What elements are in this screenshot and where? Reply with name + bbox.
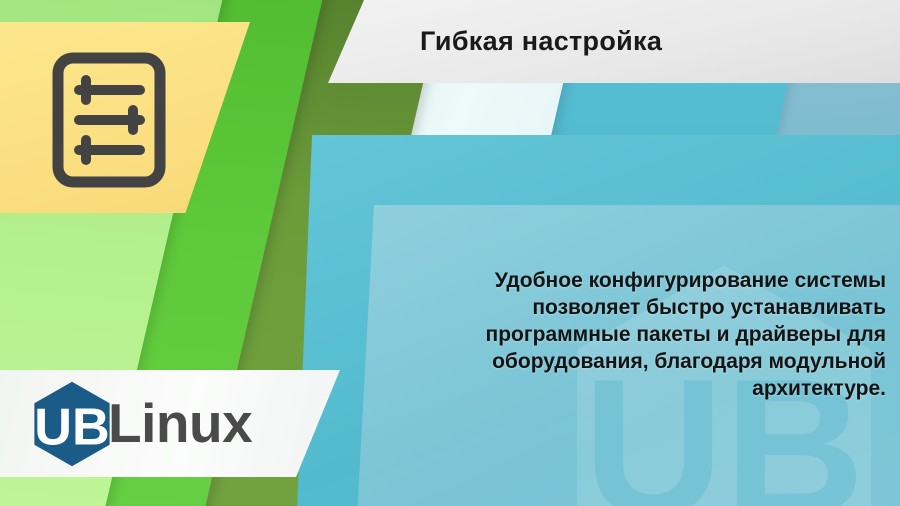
logo-wordmark: Linux — [108, 396, 252, 451]
page-title: Гибкая настройка — [420, 26, 662, 57]
slide-canvas: UB Гибкая настройка UB Linux У — [0, 0, 900, 506]
ub-mark-text: UB — [34, 398, 109, 456]
brand-logo: UB Linux — [33, 381, 252, 467]
icon-panel-yellow — [0, 22, 250, 213]
body-text: Удобное конфигурирование системы позволя… — [416, 268, 886, 402]
settings-sliders-icon — [52, 52, 166, 188]
title-banner: Гибкая настройка — [328, 0, 900, 83]
logo-banner: UB Linux — [0, 370, 340, 477]
ub-hexagon-icon: UB — [33, 381, 111, 467]
